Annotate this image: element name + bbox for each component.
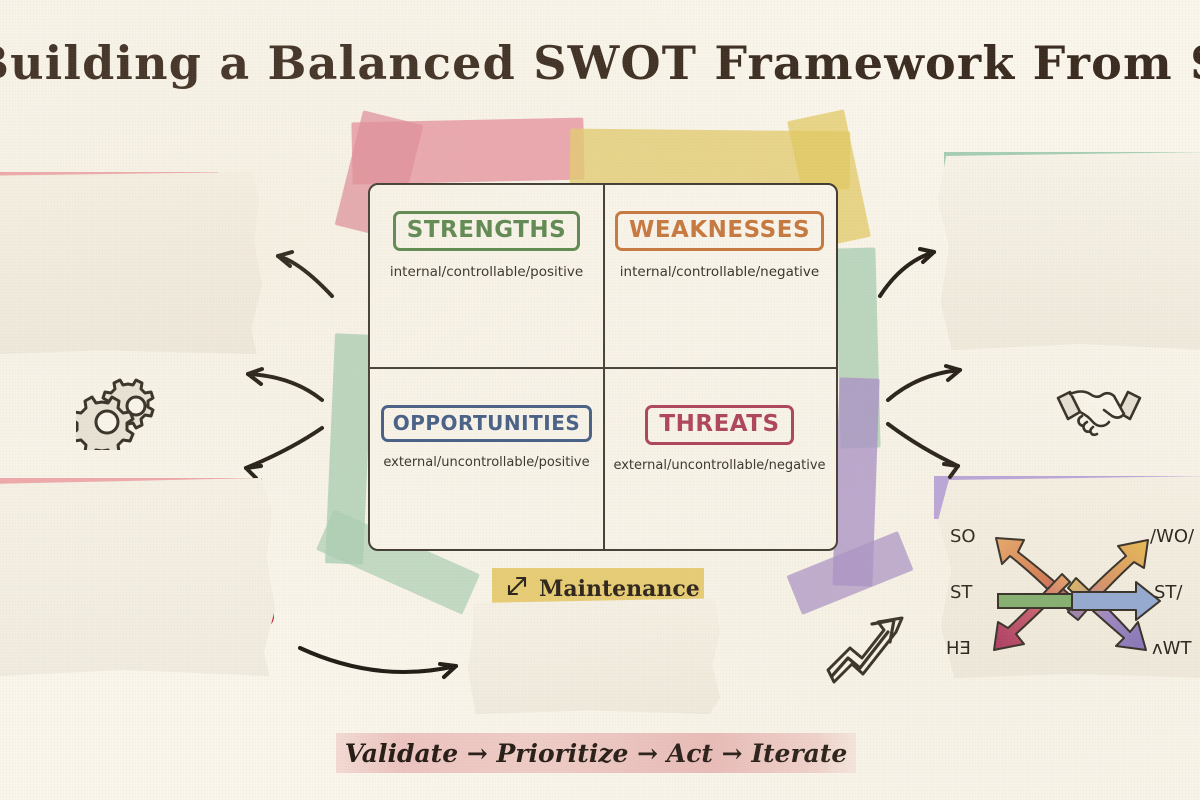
arrow-grid-to-preparation [278,256,332,296]
card-pitfalls[interactable] [0,478,278,676]
strategy-label-wo: /WO/ [1150,526,1194,547]
bottom-banner: Validate → Prioritize → Act → Iterate [336,733,856,773]
swot-quadrant-threats[interactable]: THREATS external/uncontrollable/negative [603,367,836,549]
arrow-grid-to-strategy-mapping [888,424,958,466]
threats-stamp: THREATS [645,405,793,445]
strengths-subtitle: internal/controllable/positive [390,264,583,280]
bottom-banner-text: Validate → Prioritize → Act → Iterate [345,739,848,768]
card-maintenance[interactable] [468,596,720,714]
arrow-grid-to-data-collection [880,252,934,296]
swot-quadrant-opportunities[interactable]: OPPORTUNITIES external/uncontrollable/po… [370,367,603,549]
arrow-pitfalls-to-maintenance [300,648,456,672]
weaknesses-subtitle: internal/controllable/negative [620,264,819,280]
arrow-grid-to-mid-right [888,370,960,400]
arrow-grid-to-pitfalls [246,428,322,468]
growth-arrow-icon [826,608,910,689]
strategy-label-awt: ʌWT [1152,638,1191,659]
threats-subtitle: external/uncontrollable/negative [613,458,825,473]
strategy-labels-left: SO ST HƎ [946,516,996,676]
opportunities-stamp: OPPORTUNITIES [381,405,593,442]
page-title: Building a Balanced SWOT Framework From … [0,36,1200,90]
card-data-collection[interactable] [938,152,1200,350]
swot-quadrant-strengths[interactable]: STRENGTHS internal/controllable/positive [370,185,603,367]
arrow-grid-to-mid-left [248,374,322,400]
strategy-labels-right: /WO/ ST/ ʌWT [1148,516,1200,676]
strategy-label-st-left: ST [950,582,972,603]
maintenance-title: Maintenance [539,576,700,602]
strategy-label-st-right: ST/ [1154,582,1183,603]
swot-quadrant-weaknesses[interactable]: WEAKNESSES internal/controllable/negativ… [603,185,836,367]
card-preparation[interactable] [0,172,262,354]
strategy-label-ht: HƎ [946,638,971,659]
gears-icon [76,376,172,455]
diagonal-arrow-icon [504,573,530,605]
strategy-label-so: SO [950,526,976,547]
swot-grid: STRENGTHS internal/controllable/positive… [368,183,838,551]
strengths-stamp: STRENGTHS [393,211,580,251]
opportunities-subtitle: external/uncontrollable/positive [383,455,589,470]
handshake-icon [1052,378,1146,445]
weaknesses-stamp: WEAKNESSES [615,211,824,251]
